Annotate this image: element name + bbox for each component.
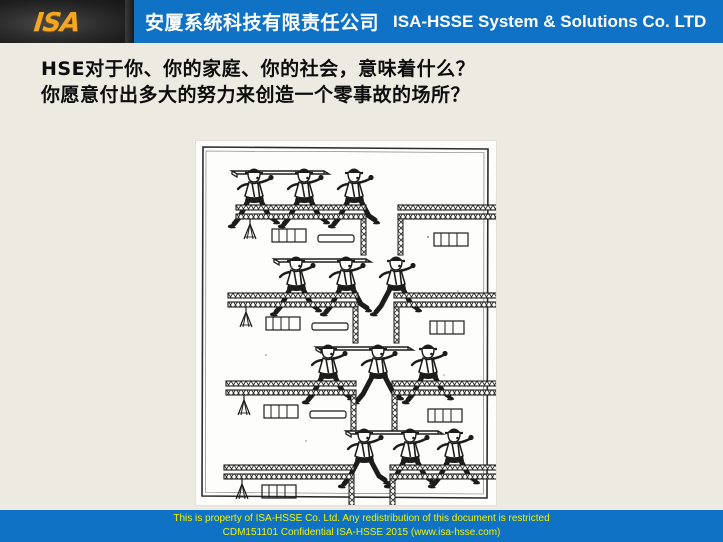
title-line-2: 你愿意付出多大的努力来创造一个零事故的场所？ <box>41 82 681 108</box>
footer-document-line: CDM151101 Confidential ISA-HSSE 2015 (ww… <box>0 526 723 540</box>
header-title-bar: 安厦系统科技有限责任公司 ISA-HSSE System & Solutions… <box>134 0 723 43</box>
isa-logo: ISA <box>32 8 81 38</box>
footer-copyright-line: This is property of ISA-HSSE Co. Ltd. An… <box>0 512 723 526</box>
slide-header: ISA 安厦系统科技有限责任公司 ISA-HSSE System & Solut… <box>0 0 723 43</box>
slide-footer: This is property of ISA-HSSE Co. Ltd. An… <box>0 510 723 542</box>
company-name-en: ISA-HSSE System & Solutions Co. LTD <box>393 12 706 32</box>
company-name-cn: 安厦系统科技有限责任公司 <box>145 8 379 35</box>
title-line-1: HSE对于你、你的家庭、你的社会，意味着什么？ <box>41 56 681 82</box>
slide-title: HSE对于你、你的家庭、你的社会，意味着什么？ 你愿意付出多大的努力来创造一个零… <box>41 56 681 108</box>
cartoon-drawing <box>196 141 496 505</box>
scaffolding-workers-cartoon <box>196 141 496 505</box>
logo-panel: ISA <box>0 0 134 43</box>
